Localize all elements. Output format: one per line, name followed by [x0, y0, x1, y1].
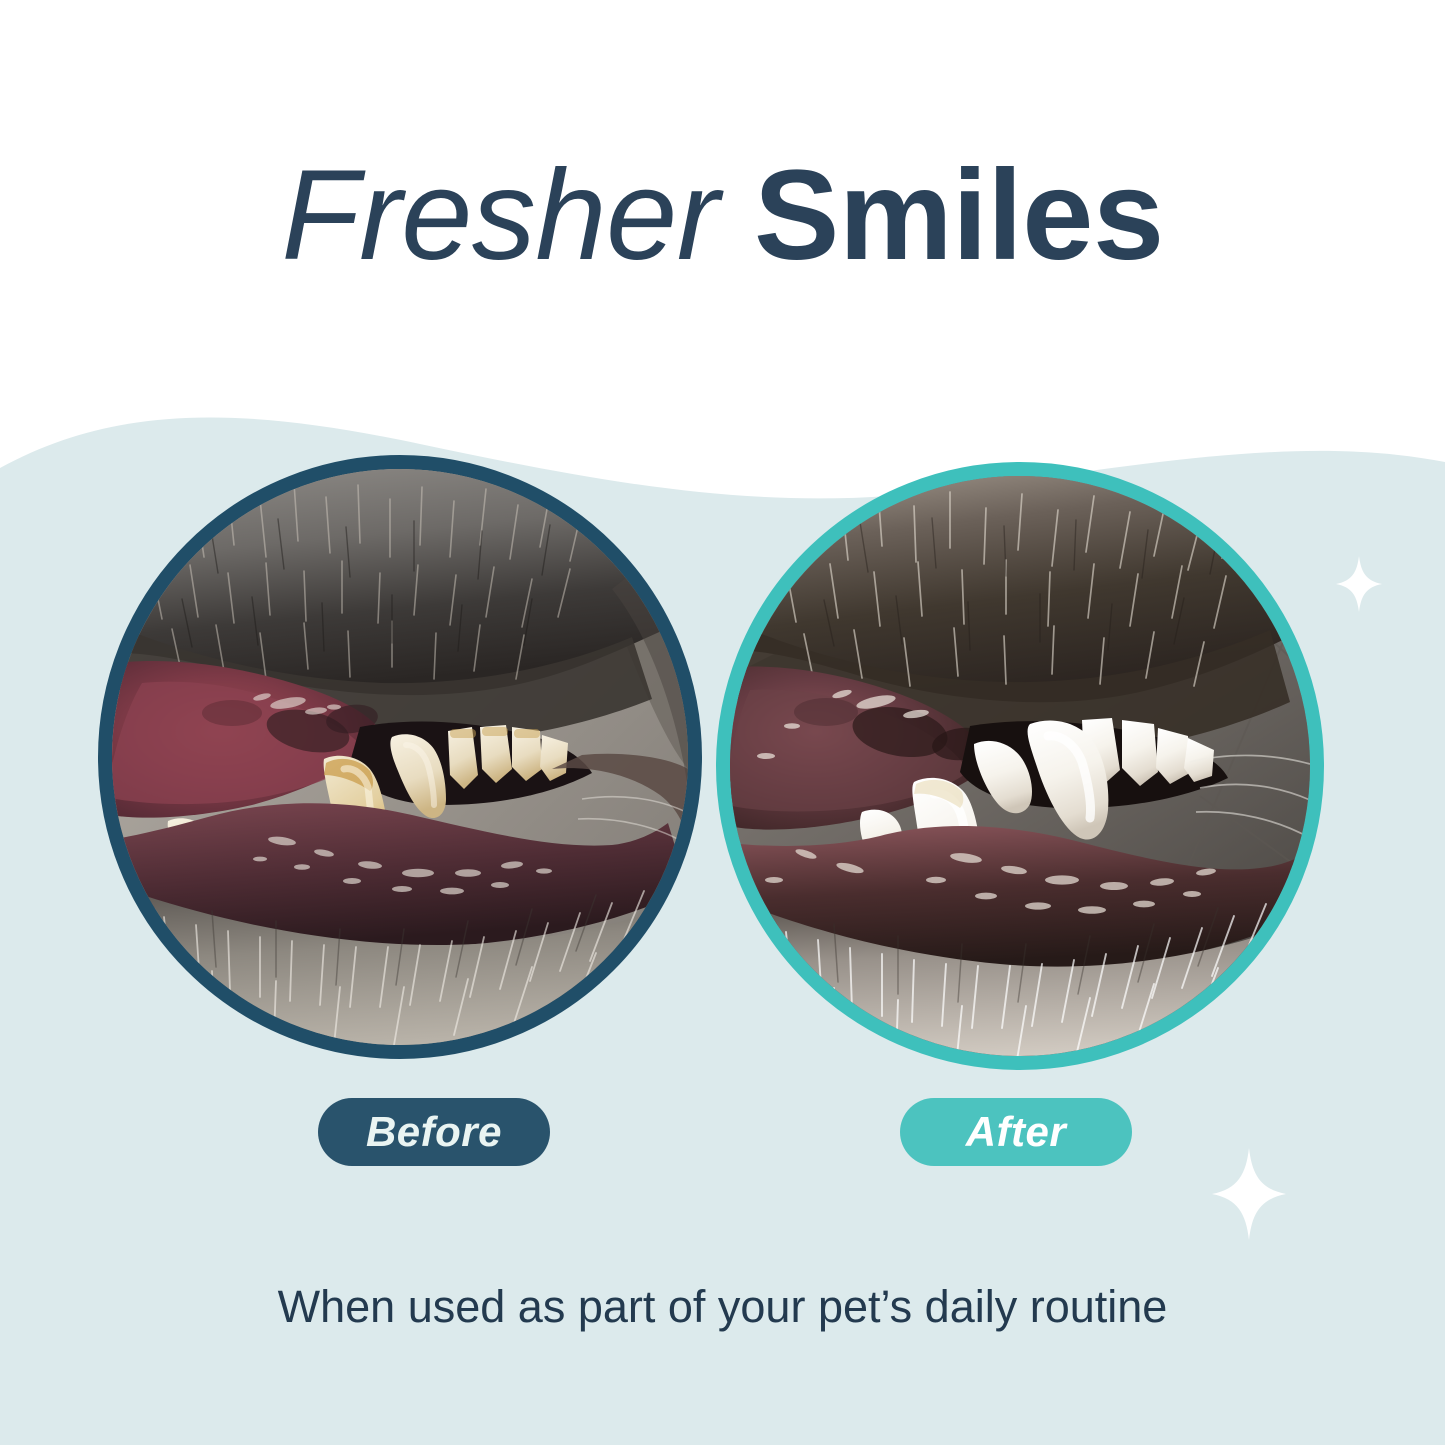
before-badge-label: Before: [366, 1108, 502, 1156]
page-title: Fresher Smiles: [0, 152, 1445, 280]
footer-caption: When used as part of your pet’s daily ro…: [0, 1281, 1445, 1333]
headline-bold-word: Smiles: [754, 144, 1164, 287]
before-badge: Before: [318, 1098, 550, 1166]
headline-light-word: Fresher: [281, 144, 754, 287]
before-dog-mouth-photo: [112, 469, 688, 1045]
before-photo-circle: [98, 455, 702, 1059]
poster-canvas: Fresher Smiles: [0, 0, 1445, 1445]
after-photo-circle: [716, 462, 1324, 1070]
after-dog-mouth-photo: [730, 476, 1310, 1056]
sparkle-icon: [1212, 1148, 1286, 1240]
sparkle-icon: [1336, 556, 1382, 612]
after-badge-label: After: [966, 1108, 1067, 1156]
after-badge: After: [900, 1098, 1132, 1166]
